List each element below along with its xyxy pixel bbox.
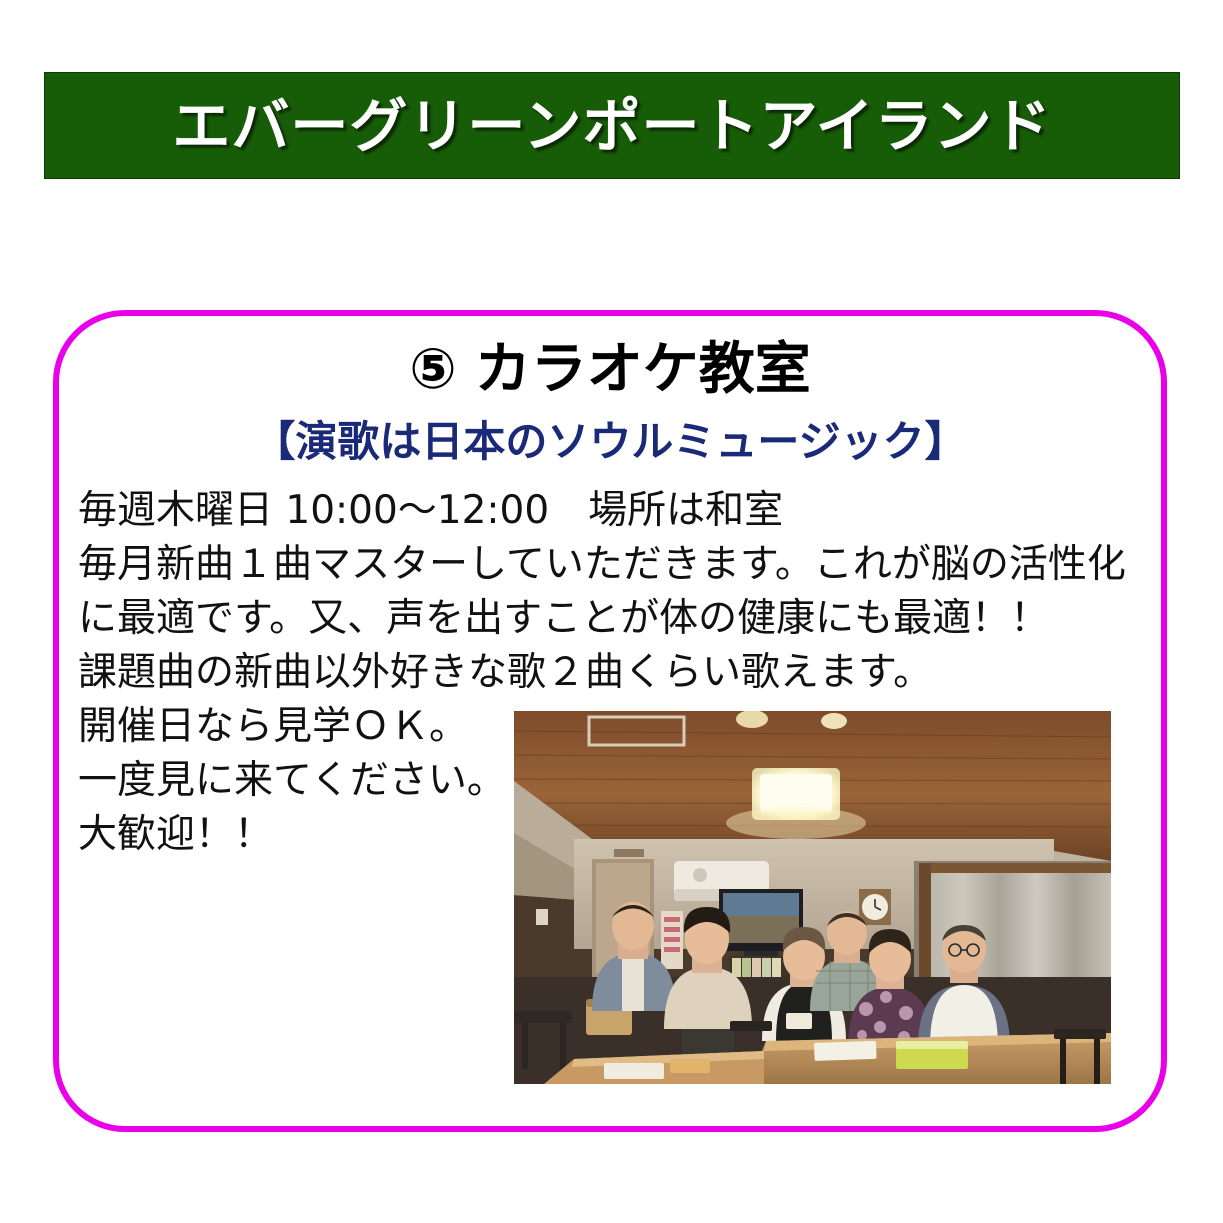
section-heading: ⑤カラオケ教室	[59, 341, 1161, 400]
body-line: 大歓迎！！	[78, 808, 508, 862]
content-panel: ⑤カラオケ教室 【演歌は日本のソウルミュージック】 毎週木曜日 10:00〜12…	[53, 310, 1167, 1132]
header-banner: エバーグリーンポートアイランド	[44, 72, 1180, 179]
section-number: ⑤	[409, 337, 456, 402]
body-line: に最適です。又、声を出すことが体の健康にも最適！！	[78, 592, 1168, 646]
section-heading-label: カラオケ教室	[475, 337, 811, 402]
body-line: 開催日なら見学ＯＫ。	[78, 700, 508, 754]
section-subheading: 【演歌は日本のソウルミュージック】	[59, 420, 1161, 464]
body-line: 課題曲の新曲以外好きな歌２曲くらい歌えます。	[78, 646, 1168, 700]
body-line: 毎週木曜日 10:00〜12:00 場所は和室	[78, 484, 1168, 538]
body-line: 一度見に来てください。	[78, 754, 508, 808]
class-photo-image	[514, 711, 1111, 1084]
header-title: エバーグリーンポートアイランド	[172, 97, 1051, 155]
class-photo	[514, 711, 1111, 1084]
body-line: 毎月新曲１曲マスターしていただきます。これが脳の活性化	[78, 538, 1168, 592]
